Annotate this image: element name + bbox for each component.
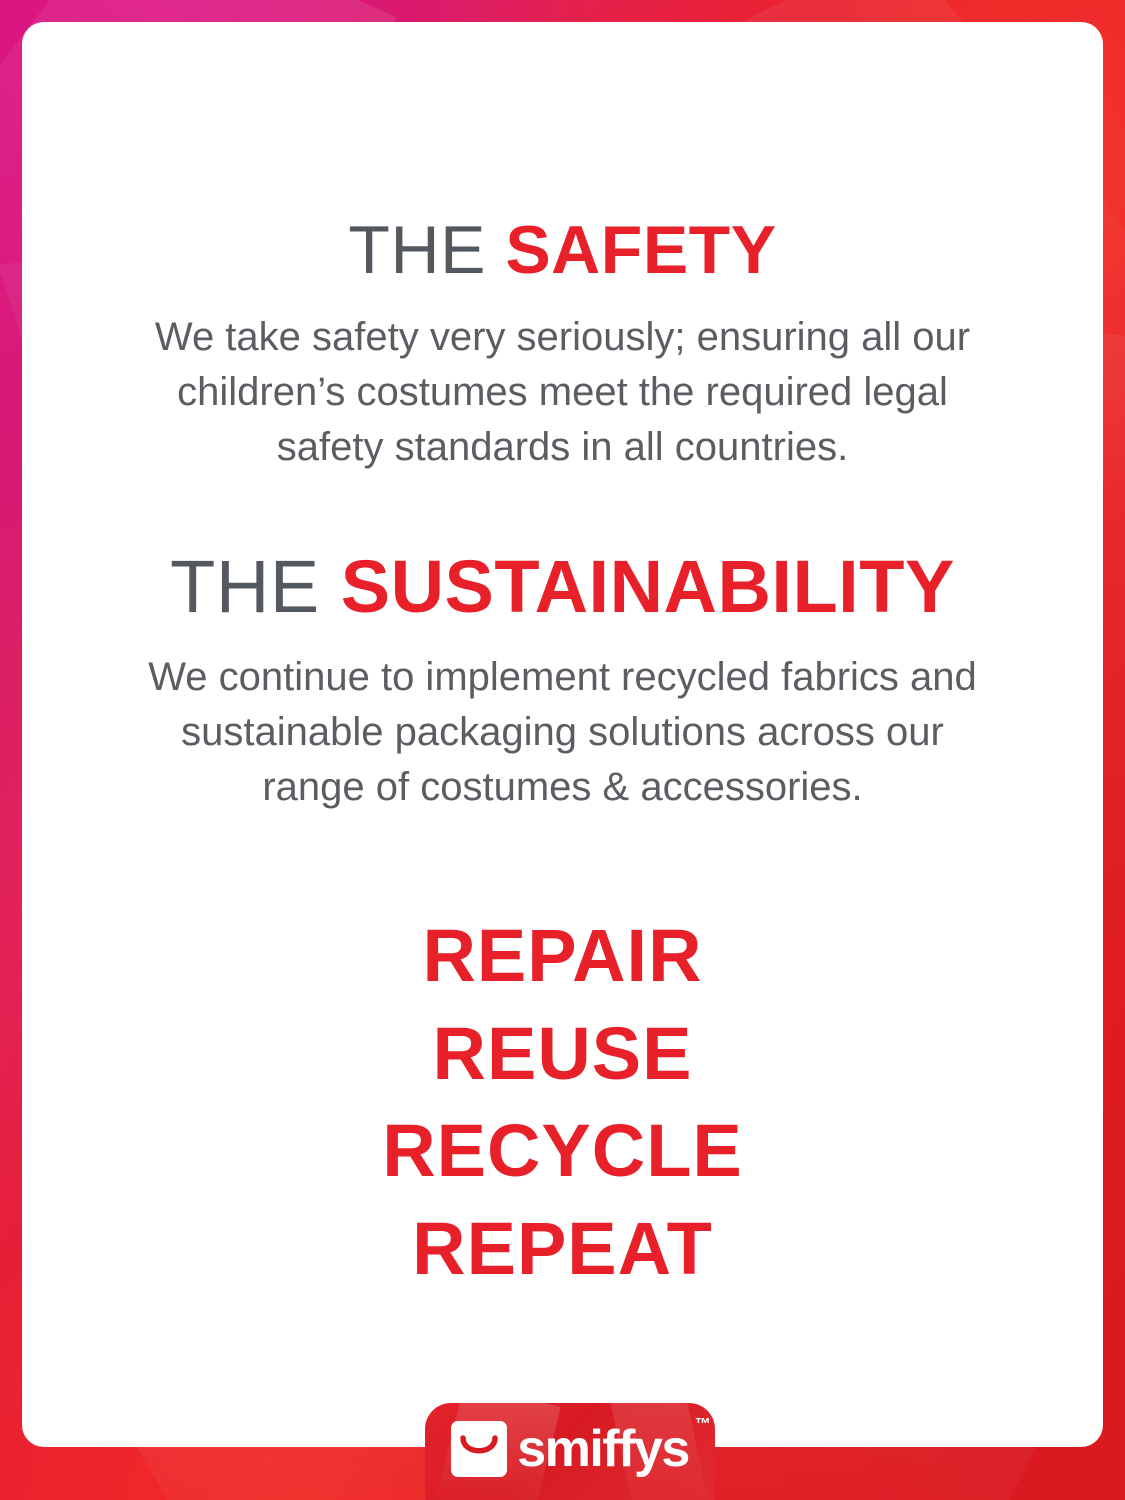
logo-lockup: smiffys ™ (425, 1421, 715, 1477)
safety-heading-accent: SAFETY (505, 212, 776, 288)
smile-icon (451, 1421, 507, 1477)
content-area: THE SAFETY We take safety very seriously… (22, 22, 1103, 1298)
trademark-symbol: ™ (695, 1417, 711, 1433)
rword-repair: REPAIR (92, 907, 1033, 1005)
smiffys-wordmark-text: smiffys (517, 1420, 689, 1478)
safety-heading-prefix: THE (348, 212, 486, 288)
sustainability-heading-accent: SUSTAINABILITY (341, 545, 955, 628)
rword-reuse: REUSE (92, 1005, 1033, 1103)
smiffys-wordmark: smiffys ™ (517, 1423, 689, 1475)
sustainability-heading-prefix: THE (170, 545, 320, 628)
section-safety: THE SAFETY We take safety very seriously… (92, 216, 1033, 476)
content-card: THE SAFETY We take safety very seriously… (22, 22, 1103, 1447)
sustainability-body-text: We continue to implement recycled fabric… (133, 650, 993, 816)
safety-body-text: We take safety very seriously; ensuring … (123, 310, 1003, 476)
poster: THE SAFETY We take safety very seriously… (0, 0, 1125, 1500)
rword-recycle: RECYCLE (92, 1102, 1033, 1200)
sustainability-heading: THE SUSTAINABILITY (92, 550, 1033, 624)
safety-heading: THE SAFETY (92, 216, 1033, 284)
section-sustainability: THE SUSTAINABILITY We continue to implem… (92, 550, 1033, 816)
rwords-list: REPAIR REUSE RECYCLE REPEAT (92, 907, 1033, 1298)
rword-repeat: REPEAT (92, 1200, 1033, 1298)
smiffys-logo-tab: smiffys ™ (425, 1403, 715, 1500)
